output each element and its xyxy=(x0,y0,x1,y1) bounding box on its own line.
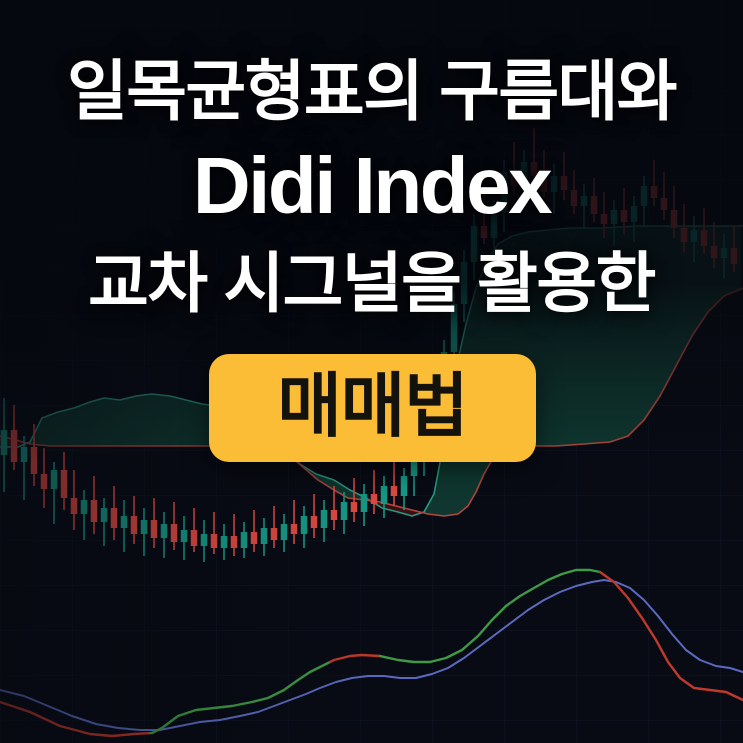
highlight-badge: 매매법 xyxy=(209,354,536,462)
poster-canvas: 일목균형표의 구름대와 Didi Index 교차 시그널을 활용한 매매법 xyxy=(0,0,743,743)
highlight-badge-label: 매매법 xyxy=(277,371,467,441)
